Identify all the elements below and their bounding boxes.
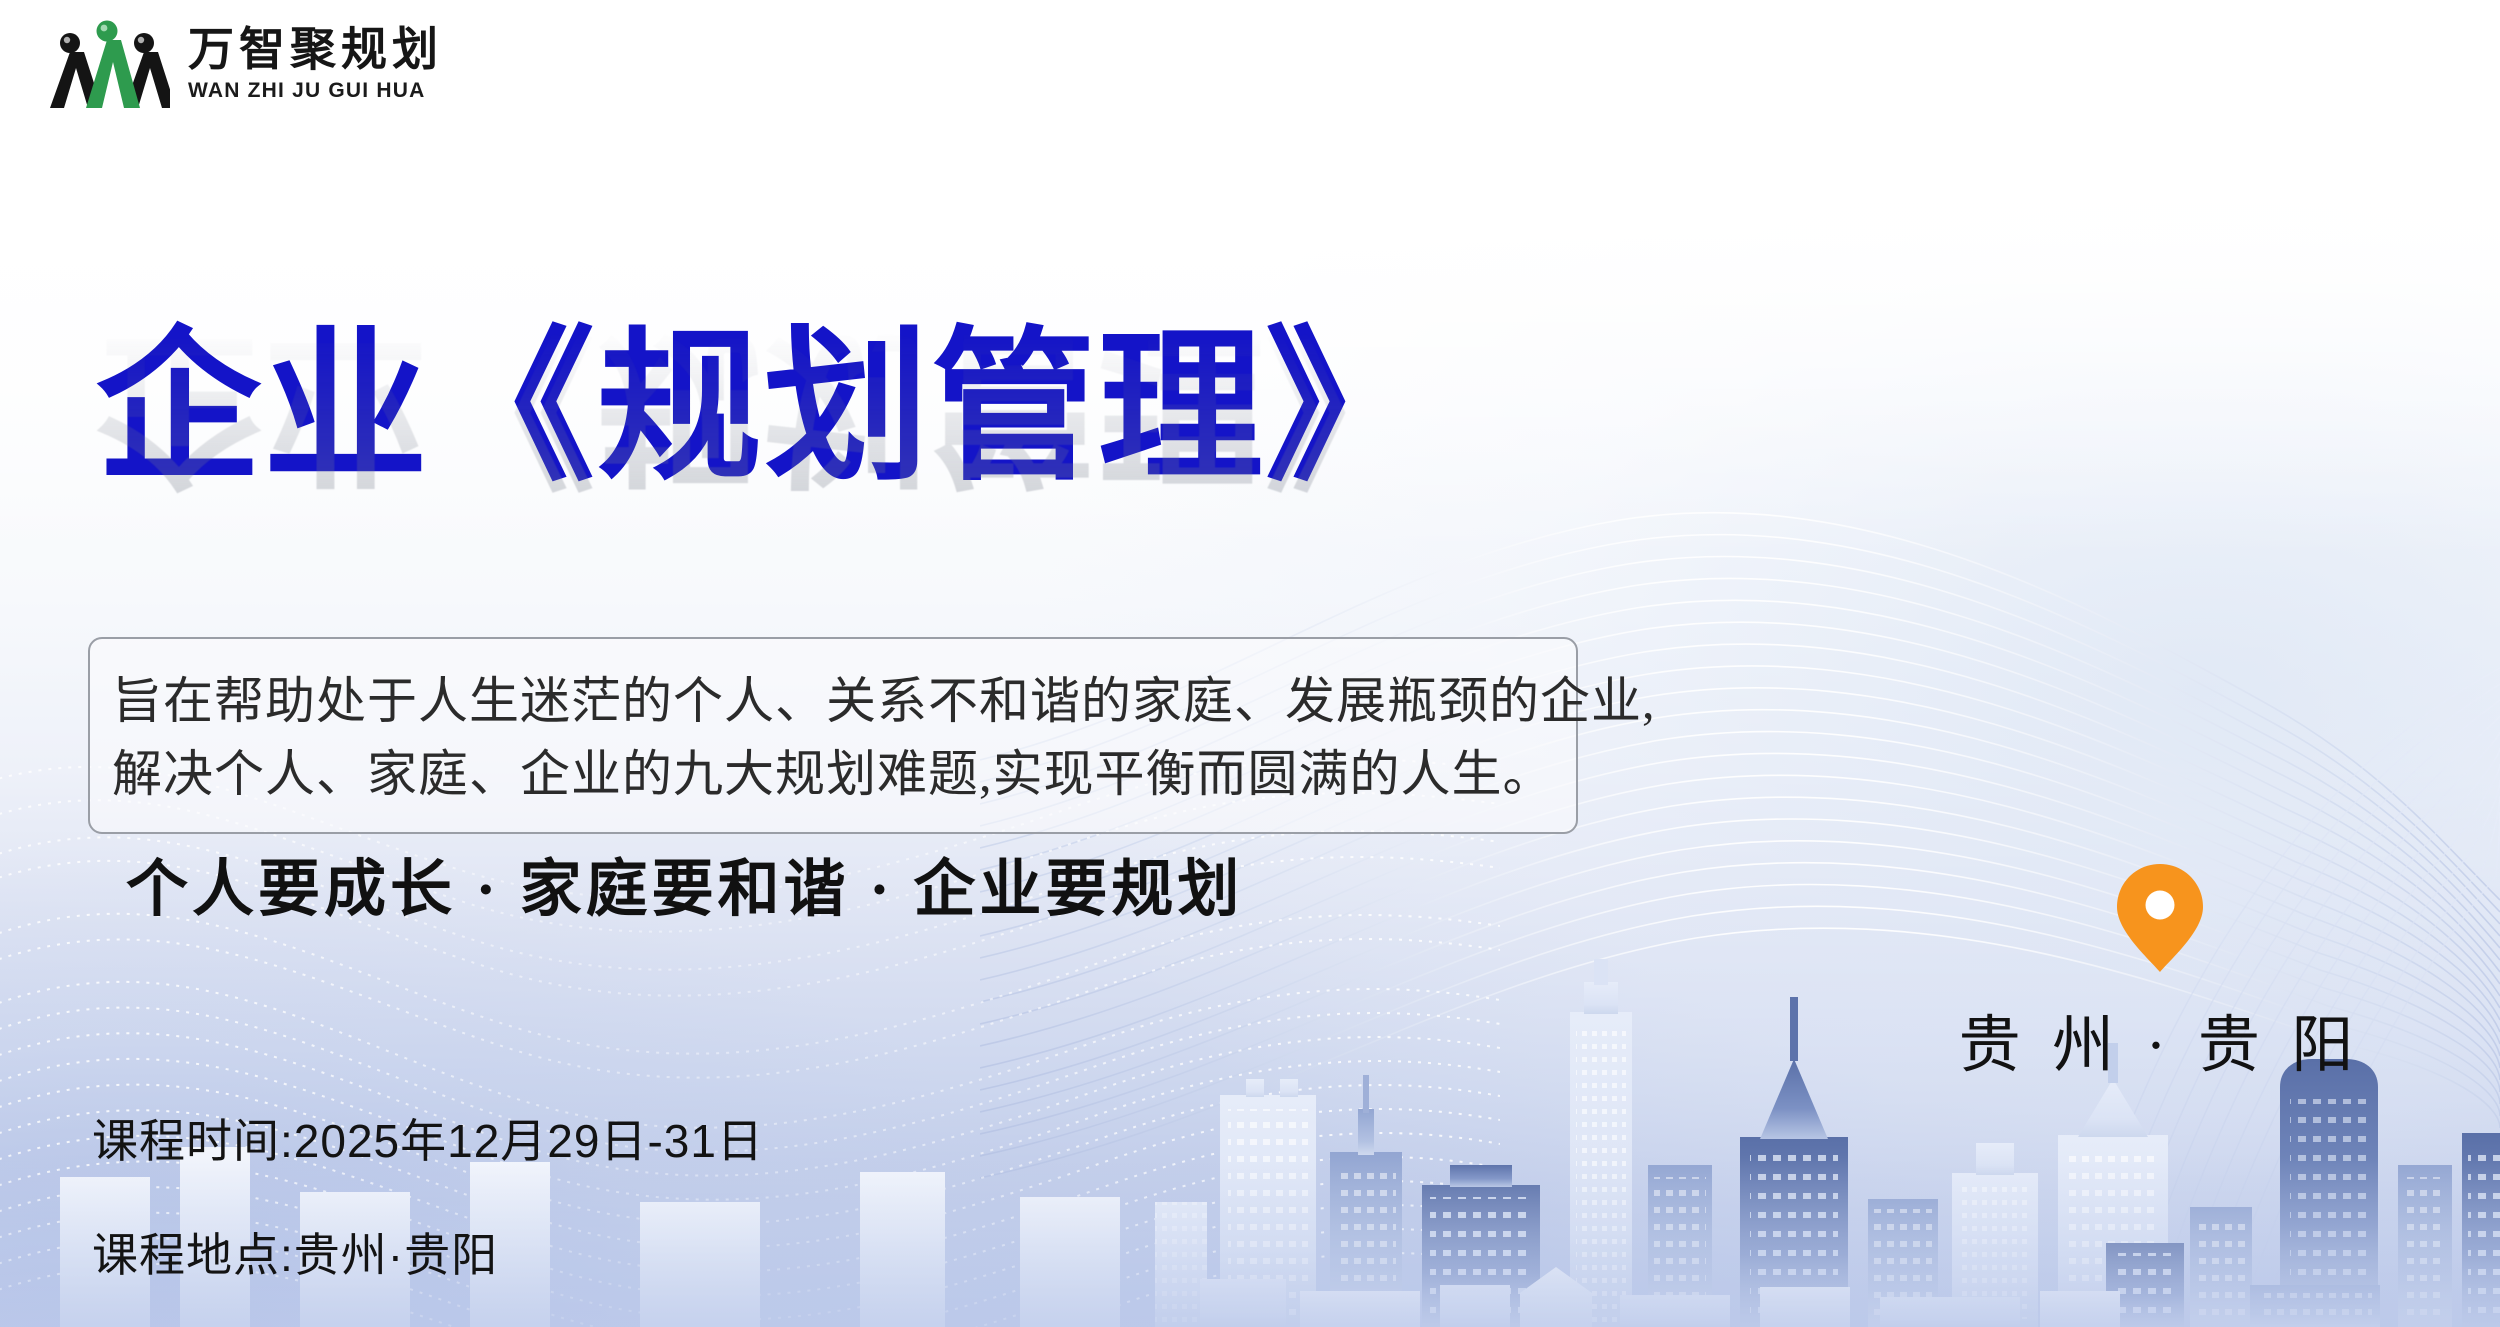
course-place: 课程地点:贵州·贵阳: [92, 1219, 764, 1285]
logo-pinyin: WAN ZHI JU GUI HUA: [188, 80, 443, 101]
page-title: 企业《规划管理》: [96, 318, 1432, 496]
brand-logo: 万智聚规划 WAN ZHI JU GUI HUA: [44, 16, 443, 112]
slogan-text: 个人要成长 · 家庭要和谐 · 企业要规划: [126, 838, 1243, 928]
poster-root: 万智聚规划 WAN ZHI JU GUI HUA 企业《规划管理》 企业《规划管…: [0, 0, 2500, 1327]
logo-chinese-name: 万智聚规划: [188, 27, 443, 73]
course-time: 课程时间:2025年12月29日-31日: [92, 1105, 764, 1171]
location-label: 贵 州 · 贵 阳: [1959, 994, 2362, 1084]
description-box: 旨在帮助处于人生迷茫的个人、关系不和谐的家庭、发展瓶颈的企业, 解决个人、家庭、…: [88, 637, 1578, 834]
map-pin-icon: [2114, 862, 2206, 974]
course-meta-block: 课程时间:2025年12月29日-31日 课程地点:贵州·贵阳: [92, 1105, 764, 1285]
logo-text-group: 万智聚规划 WAN ZHI JU GUI HUA: [188, 27, 443, 101]
location-badge: 贵 州 · 贵 阳: [1960, 862, 2360, 1084]
main-title-block: 企业《规划管理》 企业《规划管理》: [96, 318, 1432, 674]
description-line-2: 解决个人、家庭、企业的九大规划难题,实现平衡而圆满的人生。: [112, 738, 1550, 811]
description-line-1: 旨在帮助处于人生迷茫的个人、关系不和谐的家庭、发展瓶颈的企业,: [112, 665, 1550, 738]
three-people-logo-icon: [44, 16, 170, 112]
